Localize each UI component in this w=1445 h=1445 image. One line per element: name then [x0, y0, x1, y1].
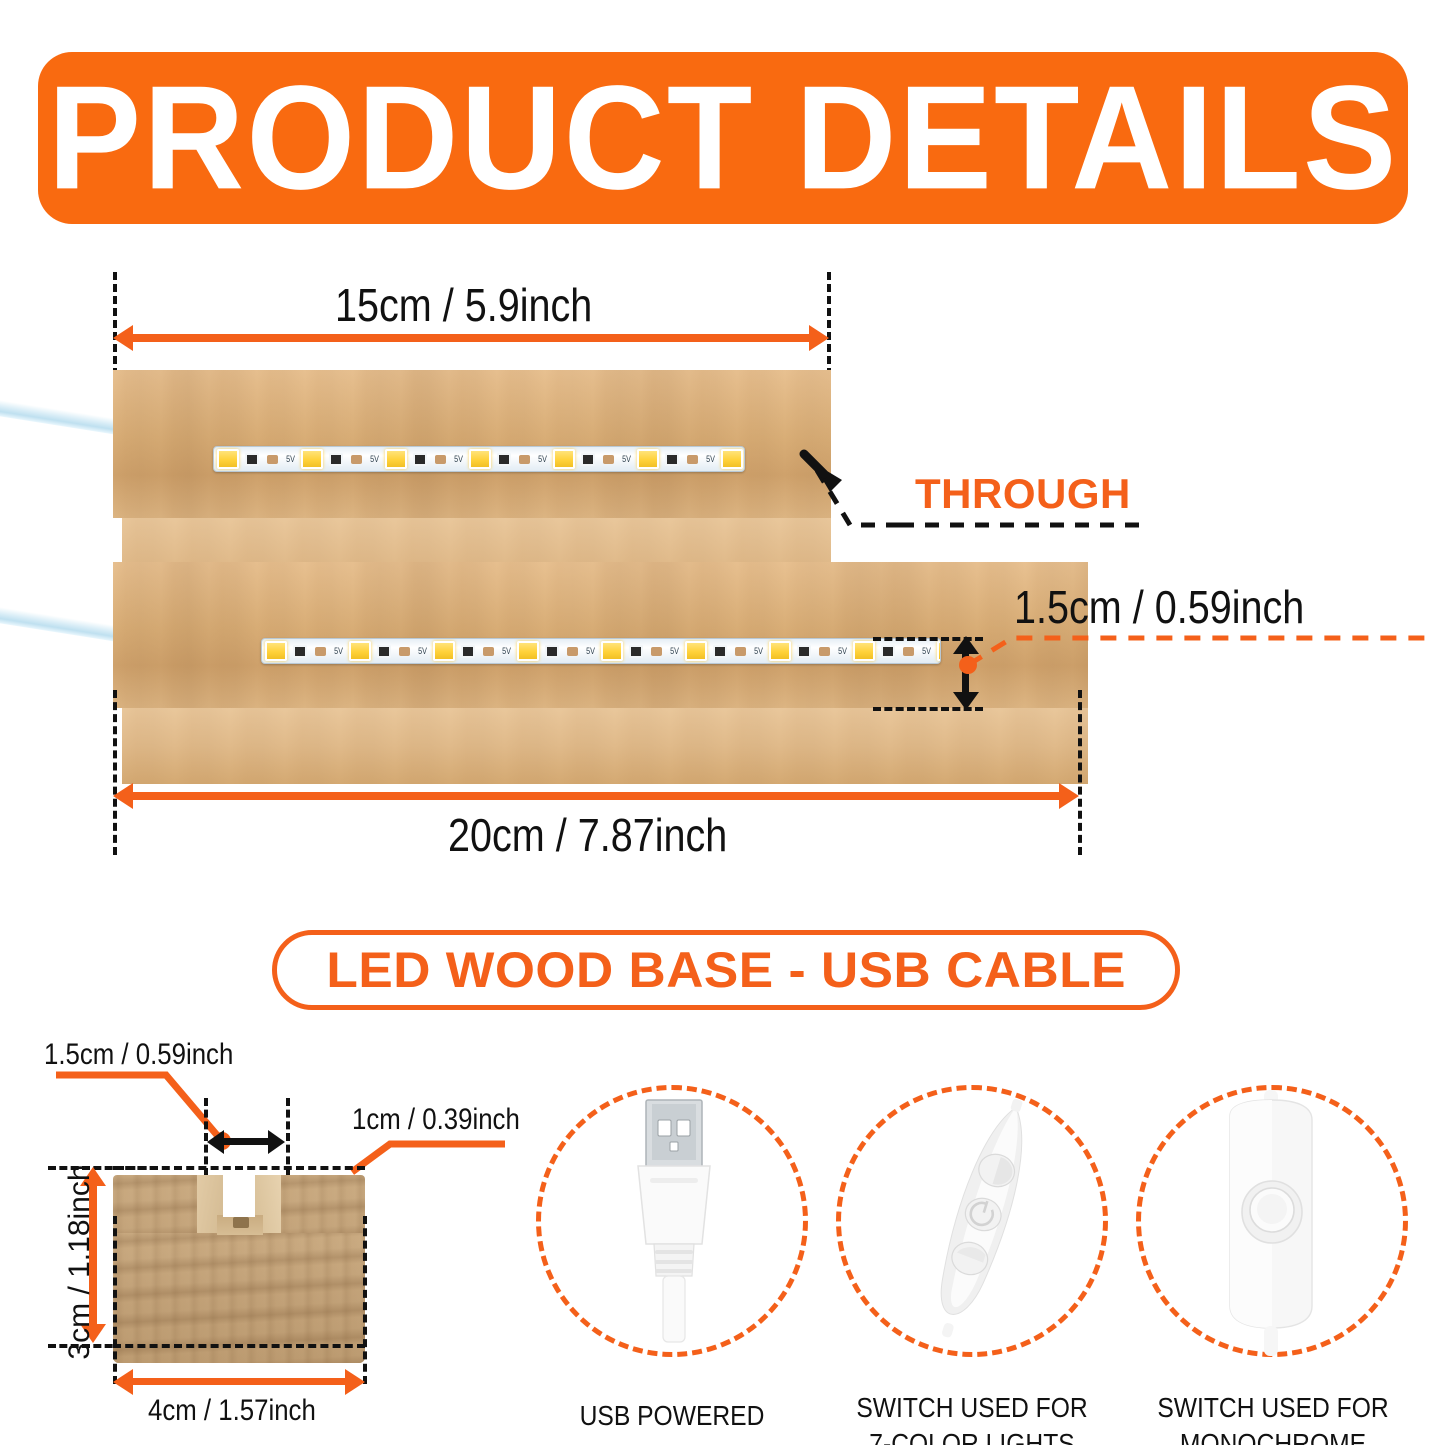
- single-button-switch-icon: [1190, 1090, 1370, 1360]
- dimension-label-20cm: 20cm / 7.87inch: [448, 808, 727, 862]
- led-voltage-label: 5V: [334, 646, 343, 656]
- led-resistor-icon: [377, 645, 391, 658]
- led-segment: 5V: [598, 639, 682, 663]
- led-voltage-label: 5V: [838, 646, 847, 656]
- groove-width-guide-right: [286, 1098, 290, 1176]
- wood-cross-section-block: [113, 1167, 365, 1367]
- groove-slot-icon: [233, 1217, 249, 1228]
- led-chip-icon: [685, 641, 707, 661]
- usb-connector-icon: [608, 1098, 738, 1348]
- led-chip-icon: [601, 641, 623, 661]
- led-chip-icon: [553, 449, 575, 469]
- led-pad-icon: [267, 455, 278, 464]
- led-resistor-icon: [461, 645, 475, 658]
- groove-depth-1cm-leader: [360, 1130, 550, 1190]
- led-pad-icon: [399, 647, 410, 656]
- dimension-arrow-15cm: [131, 334, 811, 342]
- led-chip-icon: [301, 449, 323, 469]
- led-segment: 5V: [514, 639, 598, 663]
- width-guide-left: [113, 1216, 117, 1384]
- led-resistor-icon: [245, 453, 259, 466]
- led-chip-icon: [517, 641, 539, 661]
- dimension-label-height: 3cm / 1.18inch: [63, 1162, 97, 1362]
- led-chip-icon: [385, 449, 407, 469]
- page-title: PRODUCT DETAILS: [48, 64, 1399, 212]
- led-segment: 5V: [682, 639, 766, 663]
- led-segment: 5V: [718, 447, 745, 471]
- led-segment: 5V: [262, 639, 346, 663]
- feature-caption-switch-7color: SWITCH USED FOR 7-COLOR LIGHTS: [856, 1390, 1088, 1445]
- led-segment: 5V: [346, 639, 430, 663]
- width-arrow: [131, 1378, 347, 1385]
- width-guide-right: [363, 1216, 367, 1384]
- led-chip-icon: [637, 449, 659, 469]
- led-voltage-label: 5V: [370, 454, 379, 464]
- led-strip-small: 5V 5V 5V 5V 5V 5V 5V: [213, 446, 745, 472]
- led-resistor-icon: [329, 453, 343, 466]
- led-chip-icon: [853, 641, 875, 661]
- led-voltage-label: 5V: [454, 454, 463, 464]
- extension-line-right-20cm: [1078, 690, 1082, 855]
- led-resistor-icon: [881, 645, 895, 658]
- led-segment: 5V: [766, 639, 850, 663]
- dimension-label-width: 4cm / 1.57inch: [148, 1394, 316, 1428]
- led-voltage-label: 5V: [418, 646, 427, 656]
- led-chip-icon: [433, 641, 455, 661]
- led-pad-icon: [567, 647, 578, 656]
- led-voltage-label: 5V: [670, 646, 679, 656]
- led-segment: 5V: [550, 447, 634, 471]
- led-pad-icon: [687, 455, 698, 464]
- led-resistor-icon: [413, 453, 427, 466]
- led-resistor-icon: [797, 645, 811, 658]
- feature-caption-usb: USB POWERED: [556, 1398, 788, 1434]
- groove-width-arrow: [222, 1138, 270, 1145]
- header-banner: PRODUCT DETAILS: [38, 52, 1408, 224]
- led-chip-icon: [469, 449, 491, 469]
- feature-caption-switch-mono: SWITCH USED FOR MONOCHROME LIGHTS: [1145, 1390, 1400, 1445]
- groove-width-leader: [70, 1075, 290, 1170]
- led-segment: 5V: [934, 639, 941, 663]
- led-voltage-label: 5V: [706, 454, 715, 464]
- led-segment: 5V: [466, 447, 550, 471]
- led-resistor-icon: [713, 645, 727, 658]
- wood-base-small-top-face: [113, 370, 831, 520]
- led-chip-icon: [769, 641, 791, 661]
- wood-base-large-top-face: [113, 562, 1088, 710]
- led-strip-large: 5V 5V 5V 5V 5V 5V 5V 5V 5V: [261, 638, 941, 664]
- led-voltage-label: 5V: [286, 454, 295, 464]
- led-resistor-icon: [581, 453, 595, 466]
- led-resistor-icon: [545, 645, 559, 658]
- led-voltage-label: 5V: [754, 646, 763, 656]
- led-chip-icon: [217, 449, 239, 469]
- led-pad-icon: [519, 455, 530, 464]
- led-chip-icon: [937, 641, 941, 661]
- led-pad-icon: [735, 647, 746, 656]
- groove-cavity: [223, 1167, 255, 1217]
- section-pill: LED WOOD BASE - USB CABLE: [272, 930, 1180, 1010]
- led-chip-icon: [265, 641, 287, 661]
- led-segment: 5V: [430, 639, 514, 663]
- block-guide-bottom: [113, 1344, 365, 1348]
- led-segment: 5V: [850, 639, 934, 663]
- wood-base-large-front-face: [120, 708, 1088, 784]
- led-pad-icon: [483, 647, 494, 656]
- led-voltage-label: 5V: [586, 646, 595, 656]
- led-resistor-icon: [665, 453, 679, 466]
- led-pad-icon: [351, 455, 362, 464]
- led-pad-icon: [651, 647, 662, 656]
- led-resistor-icon: [629, 645, 643, 658]
- led-voltage-label: 5V: [538, 454, 547, 464]
- led-segment: 5V: [214, 447, 298, 471]
- led-chip-icon: [721, 449, 743, 469]
- led-pad-icon: [435, 455, 446, 464]
- section-pill-label: LED WOOD BASE - USB CABLE: [326, 941, 1126, 999]
- led-voltage-label: 5V: [922, 646, 931, 656]
- led-segment: 5V: [382, 447, 466, 471]
- led-pad-icon: [603, 455, 614, 464]
- led-chip-icon: [349, 641, 371, 661]
- three-button-switch-icon: [880, 1090, 1080, 1360]
- extension-line-left-20cm: [113, 690, 117, 855]
- product-details-infographic: PRODUCT DETAILS 15cm / 5.9inch 5V 5V 5V …: [0, 0, 1445, 1445]
- wood-base-large: 5V 5V 5V 5V 5V 5V 5V 5V 5V: [113, 562, 1088, 784]
- led-resistor-icon: [293, 645, 307, 658]
- led-segment: 5V: [298, 447, 382, 471]
- through-label: THROUGH: [915, 470, 1131, 518]
- dimension-label-15cm: 15cm / 5.9inch: [335, 278, 592, 332]
- led-voltage-label: 5V: [622, 454, 631, 464]
- led-pad-icon: [315, 647, 326, 656]
- led-voltage-label: 5V: [502, 646, 511, 656]
- led-segment: 5V: [634, 447, 718, 471]
- dimension-arrow-20cm: [131, 792, 1061, 800]
- block-guide-top: [113, 1166, 365, 1170]
- led-resistor-icon: [497, 453, 511, 466]
- dimension-label-groove-depth: 1.5cm / 0.59inch: [1014, 580, 1304, 634]
- led-pad-icon: [819, 647, 830, 656]
- led-pad-icon: [903, 647, 914, 656]
- dimension-label-groove-width: 1.5cm / 0.59inch: [44, 1038, 233, 1072]
